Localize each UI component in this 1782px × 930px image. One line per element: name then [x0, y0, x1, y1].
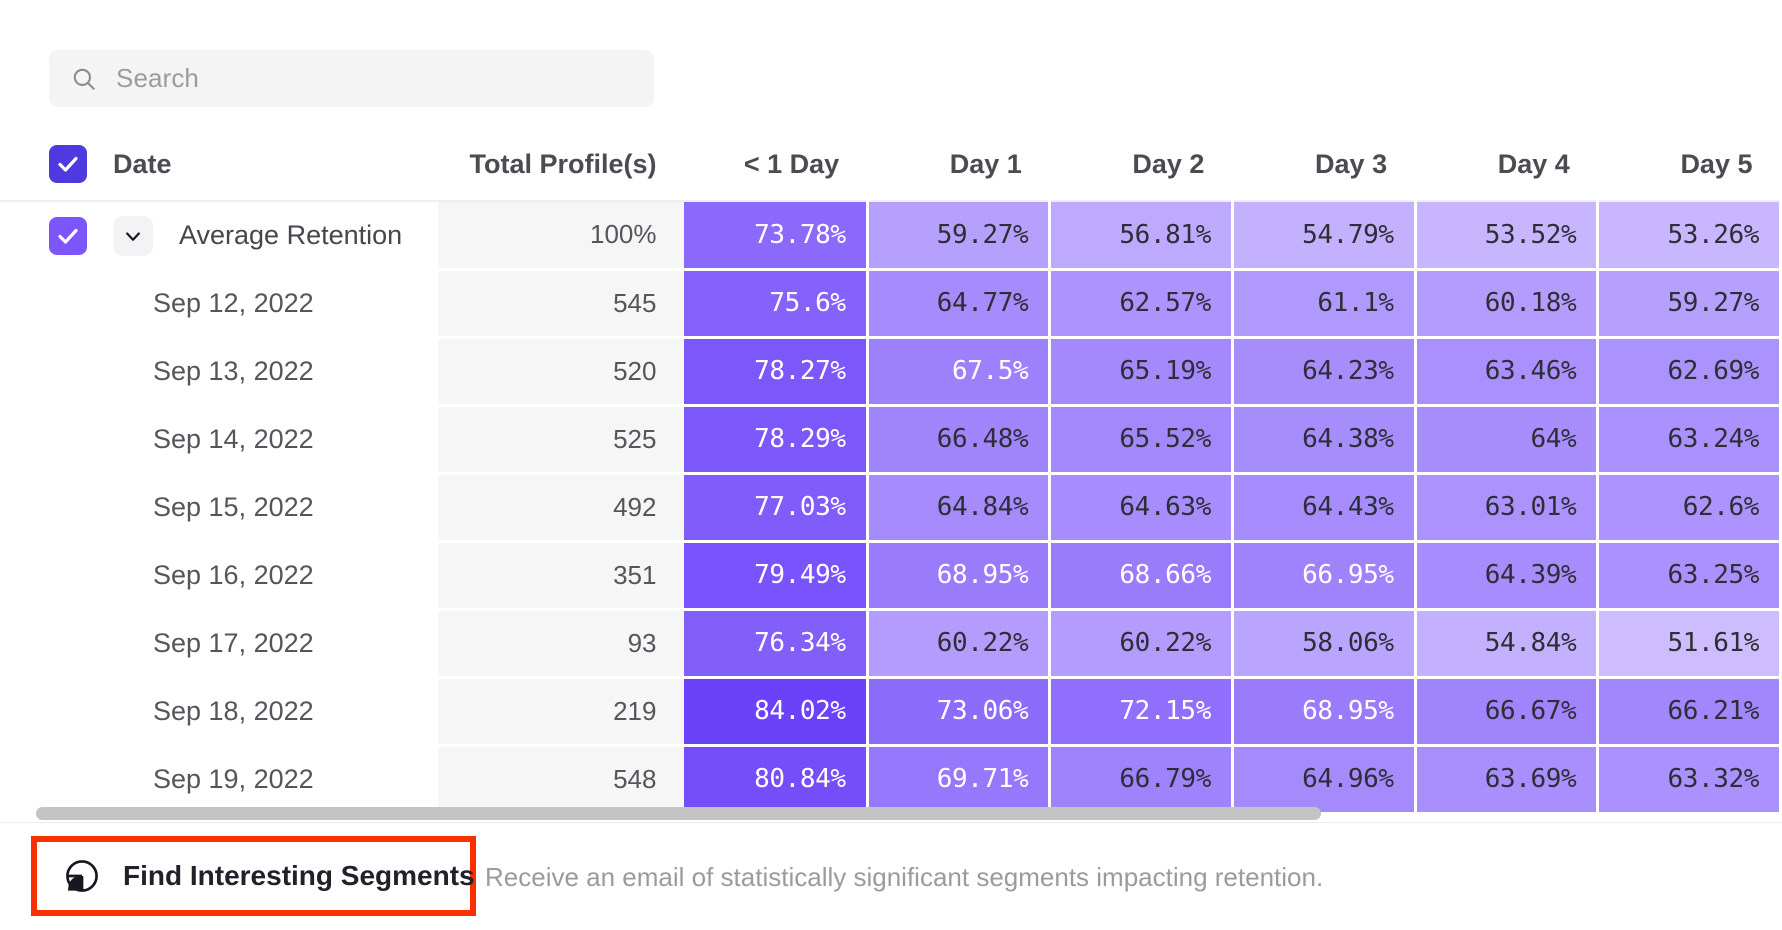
row-label: Sep 14, 2022	[49, 424, 314, 455]
row-label: Sep 13, 2022	[49, 356, 314, 387]
table-row[interactable]: Sep 17, 20229376.34%60.22%60.22%58.06%54…	[0, 609, 1781, 677]
table-header: Date Total Profile(s) < 1 Day Day 1 Day …	[0, 128, 1781, 201]
row-total-profiles-cell: 100%	[438, 201, 685, 269]
row-date-cell: Sep 13, 2022	[0, 337, 438, 405]
row-select-checkbox[interactable]	[49, 217, 87, 255]
retention-cell[interactable]: 61.1%	[1232, 269, 1415, 337]
search-placeholder: Search	[116, 63, 199, 94]
row-total-profiles-cell: 351	[438, 541, 685, 609]
retention-cell[interactable]: 64.43%	[1232, 473, 1415, 541]
retention-cell[interactable]: 51.61%	[1598, 609, 1781, 677]
table-row[interactable]: Sep 15, 202249277.03%64.84%64.63%64.43%6…	[0, 473, 1781, 541]
retention-cell[interactable]: 54.84%	[1415, 609, 1598, 677]
retention-cell[interactable]: 73.78%	[684, 201, 867, 269]
row-date-cell: Sep 19, 2022	[0, 745, 438, 812]
chevron-down-icon	[123, 226, 143, 246]
retention-cell[interactable]: 63.69%	[1415, 745, 1598, 812]
column-header-date-label: Date	[113, 149, 172, 180]
table-row[interactable]: Sep 18, 202221984.02%73.06%72.15%68.95%6…	[0, 677, 1781, 745]
search-container: Search	[49, 50, 654, 107]
retention-cell[interactable]: 54.79%	[1232, 201, 1415, 269]
retention-cell[interactable]: 60.22%	[1050, 609, 1233, 677]
column-header-less-than-1-day[interactable]: < 1 Day	[684, 128, 867, 201]
retention-cell[interactable]: 64.77%	[867, 269, 1050, 337]
retention-cell[interactable]: 64.39%	[1415, 541, 1598, 609]
find-interesting-segments-label: Find Interesting Segments	[123, 860, 475, 892]
row-total-profiles-cell: 525	[438, 405, 685, 473]
retention-cell[interactable]: 62.69%	[1598, 337, 1781, 405]
retention-cell[interactable]: 66.48%	[867, 405, 1050, 473]
column-header-total-profiles[interactable]: Total Profile(s)	[438, 128, 685, 201]
retention-cell[interactable]: 64.84%	[867, 473, 1050, 541]
search-input[interactable]: Search	[49, 50, 654, 107]
check-icon	[56, 152, 80, 176]
row-total-profiles-cell: 492	[438, 473, 685, 541]
row-date-cell: Sep 12, 2022	[0, 269, 438, 337]
retention-cell[interactable]: 63.24%	[1598, 405, 1781, 473]
retention-cell[interactable]: 60.18%	[1415, 269, 1598, 337]
row-total-profiles-cell: 219	[438, 677, 685, 745]
row-label: Sep 18, 2022	[49, 696, 314, 727]
retention-cell[interactable]: 77.03%	[684, 473, 867, 541]
retention-cell[interactable]: 59.27%	[1598, 269, 1781, 337]
find-interesting-segments-button[interactable]: Find Interesting Segments	[31, 836, 476, 916]
pie-chart-icon	[63, 857, 101, 895]
retention-cell[interactable]: 59.27%	[867, 201, 1050, 269]
column-header-day-3[interactable]: Day 3	[1232, 128, 1415, 201]
retention-cell[interactable]: 60.22%	[867, 609, 1050, 677]
retention-table-screen: Search	[0, 0, 1782, 930]
retention-cell[interactable]: 66.95%	[1232, 541, 1415, 609]
retention-cell[interactable]: 64.23%	[1232, 337, 1415, 405]
retention-cell[interactable]: 64%	[1415, 405, 1598, 473]
retention-cell[interactable]: 62.57%	[1050, 269, 1233, 337]
row-label: Sep 12, 2022	[49, 288, 314, 319]
table-row[interactable]: Sep 19, 202254880.84%69.71%66.79%64.96%6…	[0, 745, 1781, 812]
retention-cell[interactable]: 62.6%	[1598, 473, 1781, 541]
retention-cell[interactable]: 63.32%	[1598, 745, 1781, 812]
row-label: Sep 19, 2022	[49, 764, 314, 795]
column-header-date[interactable]: Date	[0, 128, 438, 201]
horizontal-scrollbar-thumb[interactable]	[36, 807, 1321, 820]
retention-cell[interactable]: 68.95%	[1232, 677, 1415, 745]
retention-cell[interactable]: 80.84%	[684, 745, 867, 812]
row-date-cell: Sep 15, 2022	[0, 473, 438, 541]
column-header-day-4[interactable]: Day 4	[1415, 128, 1598, 201]
table-row[interactable]: Sep 14, 202252578.29%66.48%65.52%64.38%6…	[0, 405, 1781, 473]
column-header-day-2[interactable]: Day 2	[1050, 128, 1233, 201]
row-date-cell: Sep 18, 2022	[0, 677, 438, 745]
retention-cell[interactable]: 64.63%	[1050, 473, 1233, 541]
retention-cell[interactable]: 63.01%	[1415, 473, 1598, 541]
table-body: Average Retention100%73.78%59.27%56.81%5…	[0, 201, 1781, 812]
retention-table-scroll-region[interactable]: Date Total Profile(s) < 1 Day Day 1 Day …	[0, 128, 1782, 812]
retention-cell[interactable]: 76.34%	[684, 609, 867, 677]
retention-cell[interactable]: 63.46%	[1415, 337, 1598, 405]
expand-row-button[interactable]	[113, 216, 153, 256]
table-row[interactable]: Sep 16, 202235179.49%68.95%68.66%66.95%6…	[0, 541, 1781, 609]
retention-cell[interactable]: 75.6%	[684, 269, 867, 337]
retention-cell[interactable]: 65.52%	[1050, 405, 1233, 473]
retention-cell[interactable]: 66.21%	[1598, 677, 1781, 745]
table-row[interactable]: Sep 12, 202254575.6%64.77%62.57%61.1%60.…	[0, 269, 1781, 337]
retention-cell[interactable]: 84.02%	[684, 677, 867, 745]
row-total-profiles-cell: 545	[438, 269, 685, 337]
row-date-cell: Sep 14, 2022	[0, 405, 438, 473]
table-row[interactable]: Average Retention100%73.78%59.27%56.81%5…	[0, 201, 1781, 269]
retention-cell[interactable]: 64.96%	[1232, 745, 1415, 812]
select-all-checkbox[interactable]	[49, 145, 87, 183]
retention-cell[interactable]: 67.5%	[867, 337, 1050, 405]
retention-cell[interactable]: 53.52%	[1415, 201, 1598, 269]
retention-cell[interactable]: 79.49%	[684, 541, 867, 609]
row-date-cell: Average Retention	[0, 201, 438, 269]
row-label: Sep 15, 2022	[49, 492, 314, 523]
retention-cell[interactable]: 72.15%	[1050, 677, 1233, 745]
retention-cell[interactable]: 58.06%	[1232, 609, 1415, 677]
retention-cell[interactable]: 73.06%	[867, 677, 1050, 745]
row-label: Sep 16, 2022	[49, 560, 314, 591]
row-label: Sep 17, 2022	[49, 628, 314, 659]
row-total-profiles-cell: 520	[438, 337, 685, 405]
check-icon	[56, 224, 80, 248]
footer-description: Receive an email of statistically signif…	[485, 862, 1323, 893]
header-row: Date Total Profile(s) < 1 Day Day 1 Day …	[0, 128, 1781, 201]
retention-cell[interactable]: 78.27%	[684, 337, 867, 405]
row-total-profiles-cell: 93	[438, 609, 685, 677]
column-header-day-5[interactable]: Day 5	[1598, 128, 1781, 201]
retention-table: Date Total Profile(s) < 1 Day Day 1 Day …	[0, 128, 1782, 812]
retention-cell[interactable]: 68.66%	[1050, 541, 1233, 609]
retention-cell[interactable]: 66.79%	[1050, 745, 1233, 812]
column-header-day-1[interactable]: Day 1	[867, 128, 1050, 201]
retention-cell[interactable]: 56.81%	[1050, 201, 1233, 269]
row-date-cell: Sep 17, 2022	[0, 609, 438, 677]
table-row[interactable]: Sep 13, 202252078.27%67.5%65.19%64.23%63…	[0, 337, 1781, 405]
retention-cell[interactable]: 78.29%	[684, 405, 867, 473]
retention-cell[interactable]: 66.67%	[1415, 677, 1598, 745]
row-date-cell: Sep 16, 2022	[0, 541, 438, 609]
retention-cell[interactable]: 53.26%	[1598, 201, 1781, 269]
retention-cell[interactable]: 63.25%	[1598, 541, 1781, 609]
row-label: Average Retention	[179, 220, 402, 251]
retention-cell[interactable]: 64.38%	[1232, 405, 1415, 473]
search-icon	[71, 66, 97, 92]
retention-cell[interactable]: 69.71%	[867, 745, 1050, 812]
retention-cell[interactable]: 65.19%	[1050, 337, 1233, 405]
row-total-profiles-cell: 548	[438, 745, 685, 812]
retention-cell[interactable]: 68.95%	[867, 541, 1050, 609]
